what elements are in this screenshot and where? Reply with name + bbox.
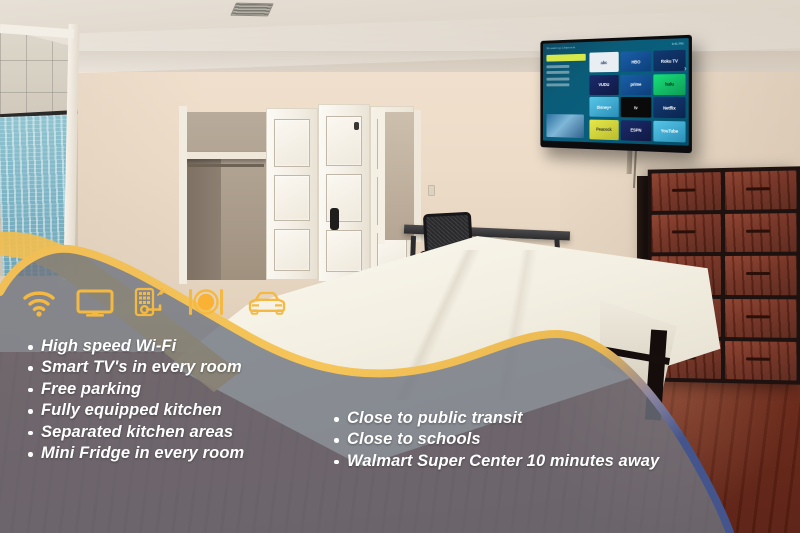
list-item: Mini Fridge in every room (24, 443, 244, 464)
amenity-icon-row (22, 287, 288, 317)
list-item: Separated kitchen areas (24, 422, 244, 443)
wifi-icon (22, 289, 56, 317)
amenities-list-right: Close to public transit Close to schools… (330, 408, 659, 472)
listing-graphic: Streaming Channels 9:41 PM abc HBO Roku … (0, 0, 800, 533)
smart-lock-keypad-icon (134, 287, 166, 317)
list-item: Close to public transit (330, 408, 659, 429)
list-item: Smart TV's in every room (24, 357, 244, 378)
overlay-content: High speed Wi-Fi Smart TV's in every roo… (0, 0, 800, 533)
list-item: Close to schools (330, 429, 659, 450)
amenities-list-left: High speed Wi-Fi Smart TV's in every roo… (24, 336, 244, 464)
list-item: Fully equipped kitchen (24, 400, 244, 421)
dining-plate-utensils-icon (186, 287, 226, 317)
list-item: Walmart Super Center 10 minutes away (330, 451, 659, 472)
car-icon (246, 289, 288, 317)
smart-tv-icon (76, 289, 114, 317)
list-item: Free parking (24, 379, 244, 400)
list-item: High speed Wi-Fi (24, 336, 244, 357)
